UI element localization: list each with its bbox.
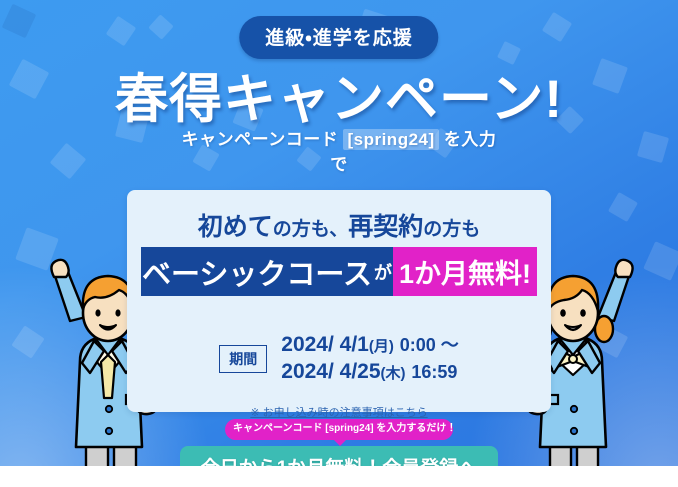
confetti-square (542, 12, 572, 42)
offer-band: ベーシックコースが 1か月無料! (141, 247, 537, 296)
confetti-square (148, 14, 173, 39)
period-end-date: 2024/ 4/25 (281, 360, 380, 383)
period-start-dow: (月) (369, 338, 394, 355)
bottom-white-band (0, 466, 678, 487)
course-name-block: ベーシックコースが (141, 247, 393, 296)
period-start-date: 2024/ 4/1 (281, 333, 369, 356)
period-row: 期間 2024/ 4/1(月) 0:00 ～ 2024/ 4/25(木) 16:… (127, 332, 551, 386)
cta-badge: キャンペーンコード [spring24] を入力するだけ！ (225, 419, 453, 440)
period-dates: 2024/ 4/1(月) 0:00 ～ 2024/ 4/25(木) 16:59 (281, 332, 458, 386)
lead-recontract: 再契約 (348, 213, 423, 241)
campaign-code-value: [spring24] (343, 129, 438, 150)
offer-card: 初めての方も、再契約の方も ベーシックコースが 1か月無料! 期間 2024/ … (127, 190, 551, 412)
campaign-code-second-line: で (0, 153, 678, 178)
period-end-time: 16:59 (411, 362, 457, 382)
campaign-code-line: キャンペーンコード [spring24] を入力 で (0, 128, 678, 177)
campaign-banner: 進級・進学を応援 春得キャンペーン! キャンペーンコード [spring24] … (0, 0, 678, 487)
campaign-code-prefix: キャンペーンコード (182, 130, 344, 149)
period-end-dow: (木) (381, 365, 406, 382)
confetti-square (608, 192, 638, 222)
campaign-code-suffix: を入力 (439, 130, 497, 149)
top-badge: 進級・進学を応援 (239, 16, 438, 59)
lead-text-1: の方も、 (273, 219, 348, 240)
course-particle: が (374, 259, 392, 285)
lead-first-time: 初めて (198, 213, 273, 241)
terms-note-link[interactable]: ※ お申し込み時の注意事項はこちら (127, 404, 551, 420)
course-name: ベーシックコース (142, 251, 372, 293)
period-start-time: 0:00 ～ (400, 335, 459, 355)
confetti-square (643, 241, 678, 281)
period-start: 2024/ 4/1(月) 0:00 ～ (281, 332, 458, 359)
offer-free-month: 1か月無料! (393, 247, 537, 296)
period-label: 期間 (219, 345, 267, 373)
page-title: 春得キャンペーン! (0, 57, 678, 133)
confetti-square (2, 4, 37, 39)
lead-text-2: の方も (423, 219, 480, 240)
period-end: 2024/ 4/25(木) 16:59 (281, 359, 458, 386)
confetti-square (106, 16, 137, 47)
offer-lead-text: 初めての方も、再契約の方も (127, 207, 551, 243)
